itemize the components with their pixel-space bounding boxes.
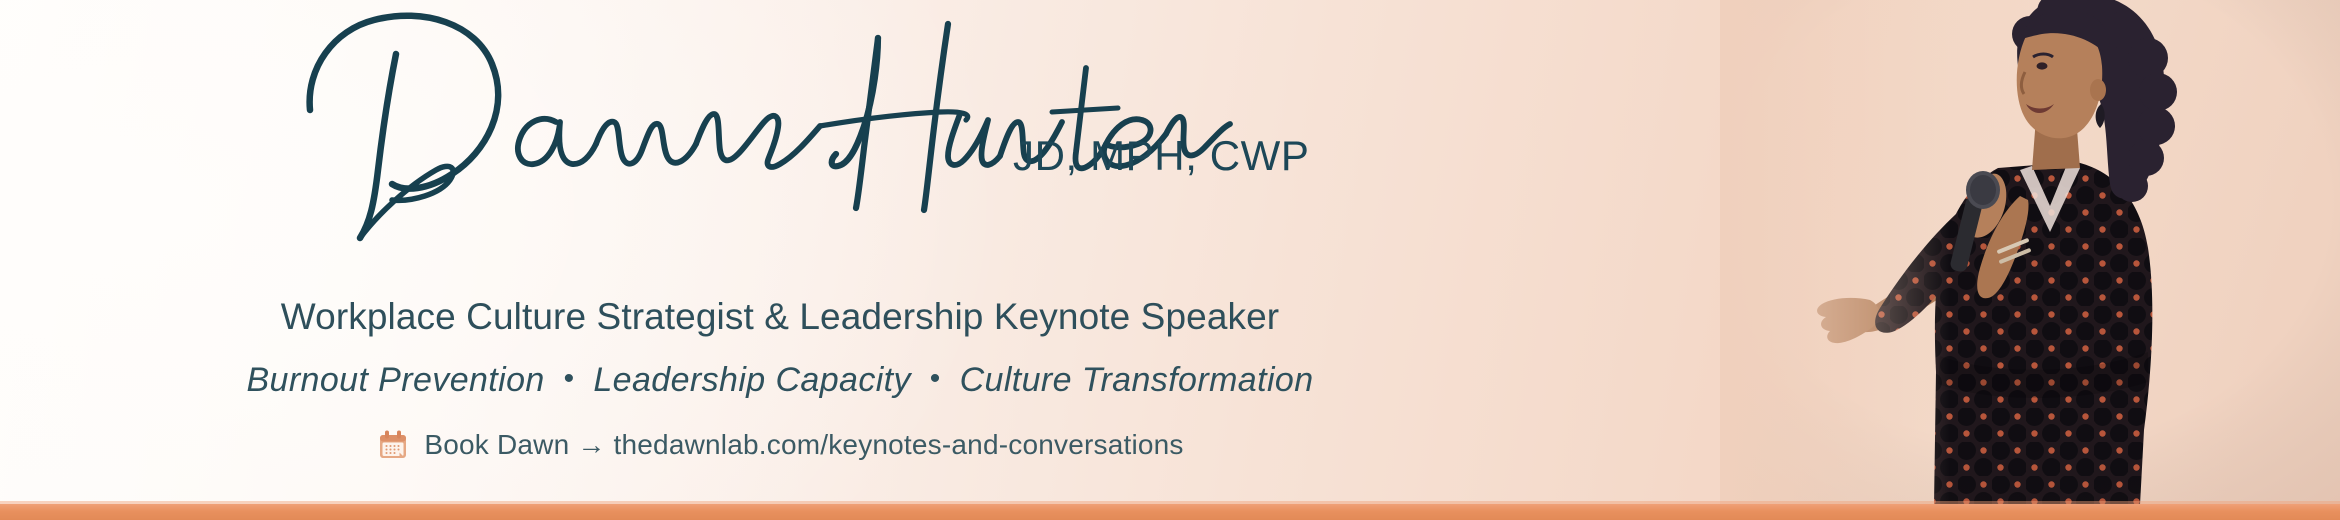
- booking-cta[interactable]: Book Dawn → thedawnlab.com/keynotes-and-…: [0, 428, 1560, 462]
- pillars-list: Burnout Prevention • Leadership Capacity…: [0, 361, 1560, 400]
- pillar-separator-2: •: [921, 362, 950, 395]
- tagline-text: Workplace Culture Strategist & Leadershi…: [0, 296, 1560, 338]
- signature-wordmark: JD, MPH, CWP: [300, 2, 1260, 192]
- speaker-banner: JD, MPH, CWP Workplace Culture Strategis…: [0, 0, 2340, 520]
- calendar-icon: [376, 428, 410, 462]
- pillar-separator-1: •: [555, 362, 584, 395]
- pillar-item-1: Burnout Prevention: [246, 361, 544, 399]
- bottom-accent-bar: [0, 504, 2340, 520]
- banner-text-block: JD, MPH, CWP Workplace Culture Strategis…: [0, 0, 1560, 505]
- booking-link-text[interactable]: Book Dawn → thedawnlab.com/keynotes-and-…: [424, 429, 1183, 461]
- pillar-item-3: Culture Transformation: [960, 361, 1314, 399]
- credentials-text: JD, MPH, CWP: [1013, 132, 1310, 180]
- pillar-item-2: Leadership Capacity: [593, 361, 911, 399]
- speaker-portrait: [1720, 0, 2340, 505]
- speaker-portrait-illustration: [1720, 0, 2340, 505]
